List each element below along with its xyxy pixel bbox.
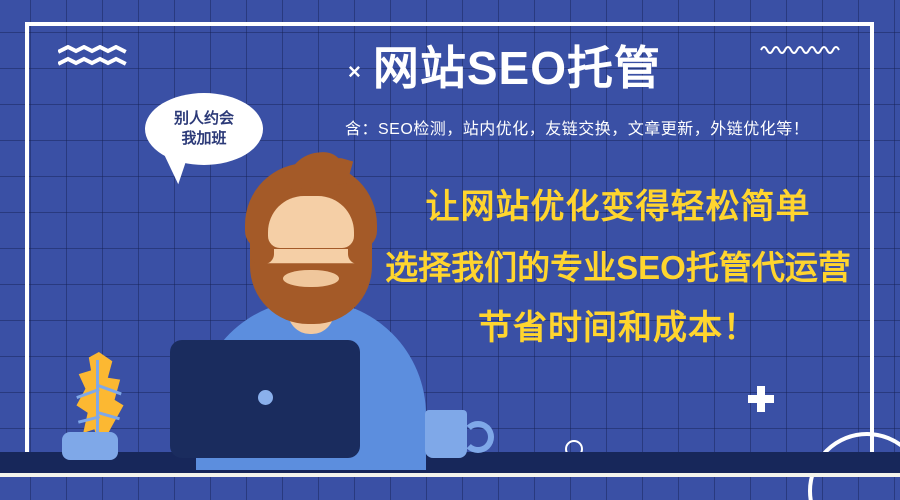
- forehead-shape: [268, 196, 354, 248]
- mouth-shape: [283, 270, 339, 287]
- coffee-mug-shape: [425, 410, 467, 458]
- seo-hosting-banner: 别人约会 我加班 × 网站SEO托管 含：SEO检测，站内优化，友链交换，文章更…: [0, 0, 900, 500]
- laptop-logo-dot: [258, 390, 273, 405]
- speech-bubble: 别人约会 我加班: [145, 93, 263, 165]
- speech-bubble-line-2: 我加班: [181, 129, 226, 149]
- speech-bubble-line-1: 别人约会: [174, 109, 234, 129]
- plant-pot-shape: [62, 432, 118, 460]
